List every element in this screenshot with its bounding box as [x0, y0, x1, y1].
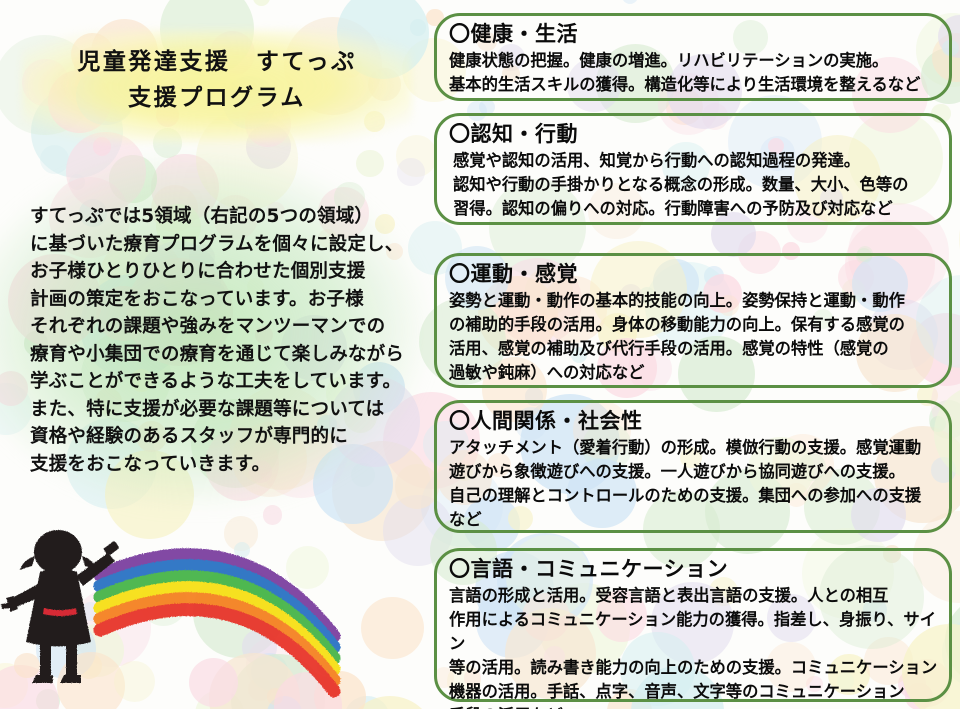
domain-card-relationships-sociality[interactable]: 〇人間関係・社会性 アタッチメント（愛着行動）の形成。模倣行動の支援。感覚運動 … [434, 400, 952, 533]
illustration-svg [0, 520, 430, 709]
program-poster: 児童発達支援 すてっぷ 支援プログラム すてっぷでは5領域（右記の5つの領域） … [0, 0, 960, 709]
domain-card-language-communication[interactable]: 〇言語・コミュニケーション 言語の形成と活用。受容言語と表出言語の支援。人との相… [434, 548, 952, 702]
page-title-line-2: 支援プログラム [22, 80, 412, 116]
domain-body: 言語の形成と活用。受容言語と表出言語の支援。人との相互 作用によるコミュニケーシ… [449, 584, 939, 709]
domain-heading: 〇認知・行動 [449, 120, 949, 148]
domain-body: 健康状態の把握。健康の増進。リハビリテーションの実施。 基本的生活スキルの獲得。… [449, 49, 939, 97]
page-title-line-1: 児童発達支援 すてっぷ [22, 44, 412, 80]
domain-body: 感覚や認知の活用、知覚から行動への認知過程の発達。 認知や行動の手掛かりとなる概… [453, 149, 939, 221]
illustration [0, 520, 430, 709]
intro-paragraph: すてっぷでは5領域（右記の5つの領域） に基づいた療育プログラムを個々に設定し、… [30, 203, 415, 478]
domain-body: 姿勢と運動・動作の基本的技能の向上。姿勢保持と運動・動作 の補助的手段の活用。身… [449, 289, 939, 385]
left-column: 児童発達支援 すてっぷ 支援プログラム すてっぷでは5領域（右記の5つの領域） … [0, 0, 430, 709]
domain-heading: 〇言語・コミュニケーション [449, 555, 949, 583]
domain-heading: 〇人間関係・社会性 [449, 407, 949, 435]
domain-body: アタッチメント（愛着行動）の形成。模倣行動の支援。感覚運動 遊びから象徴遊びへの… [449, 436, 939, 532]
domain-heading: 〇運動・感覚 [449, 260, 949, 288]
rainbow-arc [100, 555, 334, 691]
domain-card-health-life[interactable]: 〇健康・生活 健康状態の把握。健康の増進。リハビリテーションの実施。 基本的生活… [434, 13, 952, 101]
domain-card-list: 〇健康・生活 健康状態の把握。健康の増進。リハビリテーションの実施。 基本的生活… [432, 0, 960, 709]
domain-card-movement-sensation[interactable]: 〇運動・感覚 姿勢と運動・動作の基本的技能の向上。姿勢保持と運動・動作 の補助的… [434, 253, 952, 388]
domain-card-cognition-behavior[interactable]: 〇認知・行動 感覚や認知の活用、知覚から行動への認知過程の発達。 認知や行動の手… [434, 113, 952, 225]
page-title: 児童発達支援 すてっぷ 支援プログラム [22, 44, 412, 116]
domain-heading: 〇健康・生活 [449, 20, 949, 48]
